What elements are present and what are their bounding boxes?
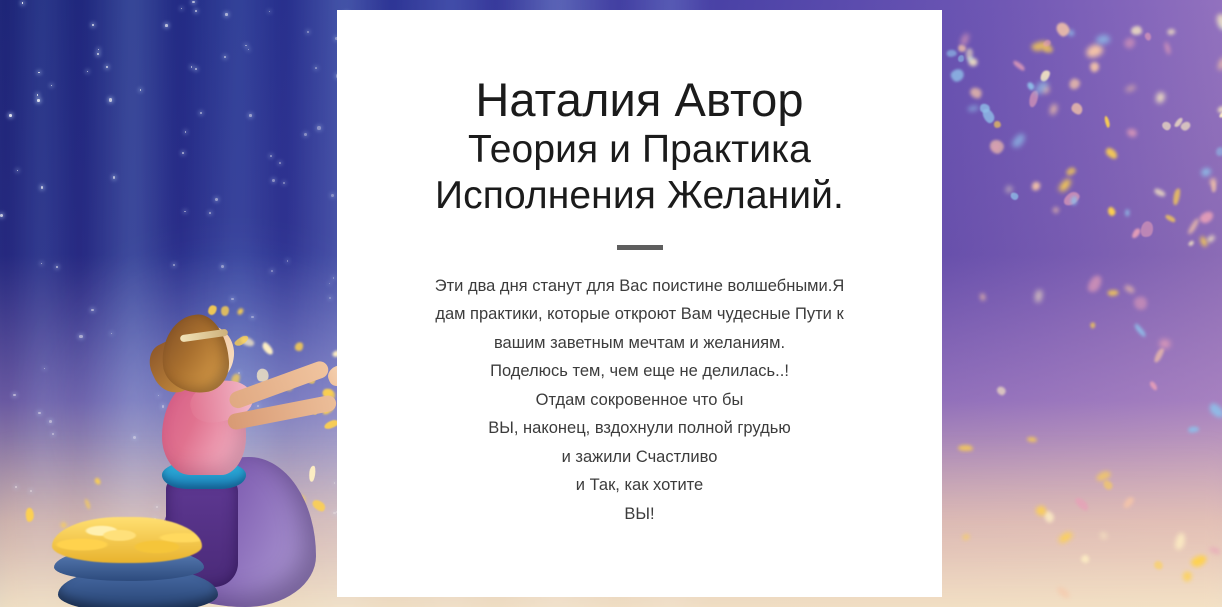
petal	[1096, 34, 1111, 44]
petal	[1216, 12, 1222, 30]
petal	[1163, 41, 1171, 54]
petal	[1181, 570, 1193, 582]
petal-pile	[52, 517, 202, 563]
petal	[968, 105, 980, 113]
petal	[1165, 214, 1177, 224]
petal	[1011, 59, 1025, 72]
petal	[1080, 555, 1090, 565]
petal	[1105, 147, 1120, 161]
petal	[1126, 128, 1138, 138]
body-line-9: ВЫ!	[404, 500, 876, 529]
petal	[1161, 120, 1173, 132]
petal	[1153, 347, 1167, 364]
body-line-2: дам практики, которые откроют Вам чудесн…	[404, 300, 876, 329]
petal	[1143, 32, 1151, 41]
poster-canvas: Наталия Автор Теория и Практика Исполнен…	[0, 0, 1222, 607]
petal	[1026, 436, 1037, 442]
petal	[1212, 183, 1217, 193]
petal	[1207, 401, 1222, 420]
petal	[1199, 167, 1212, 179]
petal	[1205, 233, 1216, 243]
petal	[1057, 530, 1073, 544]
petal	[1074, 496, 1091, 513]
petal	[963, 534, 971, 540]
body-paragraph: Эти два дня станут для Вас поистине волш…	[404, 272, 876, 529]
petal	[1090, 62, 1100, 73]
petal	[980, 293, 986, 301]
title-line-1: Наталия Автор	[395, 74, 884, 127]
body-line-4: Поделюсь тем, чем еще не делилась..!	[404, 357, 876, 386]
petal	[1058, 178, 1073, 193]
petal	[1099, 531, 1108, 540]
petal	[1155, 91, 1166, 104]
petal	[968, 85, 984, 101]
petal	[1070, 195, 1077, 205]
content-card: Наталия Автор Теория и Практика Исполнен…	[337, 10, 942, 597]
body-line-6: ВЫ, наконец, вздохнули полной грудью	[404, 414, 876, 443]
body-line-3: вашим заветным мечтам и желаниям.	[404, 329, 876, 358]
body-line-5: Отдам сокровенное что бы	[404, 386, 876, 415]
girl-figure	[70, 277, 360, 607]
petal	[958, 54, 965, 62]
petal	[946, 49, 957, 57]
petal	[1130, 227, 1141, 239]
title-line-2: Теория и Практика	[395, 127, 884, 173]
petal	[1010, 132, 1027, 150]
petal	[1089, 321, 1095, 328]
petal	[1209, 545, 1222, 554]
petal	[1106, 206, 1116, 217]
petal	[1123, 283, 1136, 294]
body-line-8: и Так, как хотите	[404, 471, 876, 500]
page-title: Наталия Автор Теория и Практика Исполнен…	[395, 74, 884, 219]
petal	[1173, 532, 1186, 550]
body-text: Эти два дня станут для Вас поистине волш…	[404, 272, 876, 531]
petal	[996, 385, 1008, 397]
petal	[1133, 322, 1147, 338]
title-line-3: Исполнения Желаний.	[395, 173, 884, 219]
petal	[1086, 273, 1105, 294]
petal	[1153, 560, 1164, 571]
petal	[1065, 166, 1077, 177]
petal	[1139, 220, 1155, 239]
petal	[1034, 289, 1043, 303]
petal	[1108, 290, 1119, 296]
petal	[1124, 84, 1136, 92]
petal	[1217, 56, 1222, 70]
petal	[958, 444, 973, 451]
petal	[1067, 77, 1082, 92]
petal	[1172, 188, 1181, 206]
petal	[1122, 36, 1137, 50]
petal	[1187, 240, 1195, 247]
petal	[26, 508, 34, 522]
petal	[1166, 28, 1175, 36]
petal	[1134, 297, 1148, 311]
title-divider	[617, 245, 663, 250]
petal	[1216, 147, 1222, 157]
petal	[1154, 187, 1167, 198]
petal	[1148, 380, 1158, 391]
petal	[1190, 553, 1209, 568]
petal	[1052, 206, 1060, 214]
body-line-7: и зажили Счастливо	[404, 443, 876, 472]
petal	[950, 67, 966, 83]
petal	[1049, 103, 1058, 115]
petal	[1131, 26, 1142, 35]
petal	[994, 121, 1001, 128]
petal	[1125, 210, 1130, 217]
petal	[1056, 585, 1072, 600]
petal	[1009, 191, 1020, 201]
petal	[1084, 42, 1104, 59]
petal	[1122, 495, 1136, 509]
body-line-1: Эти два дня станут для Вас поистине волш…	[404, 272, 876, 301]
petal	[1217, 105, 1222, 114]
petal	[1187, 217, 1200, 234]
petal	[1030, 180, 1041, 191]
petal	[1103, 116, 1110, 129]
petal	[1188, 425, 1199, 432]
petal	[1198, 209, 1215, 224]
petal	[1070, 102, 1086, 118]
